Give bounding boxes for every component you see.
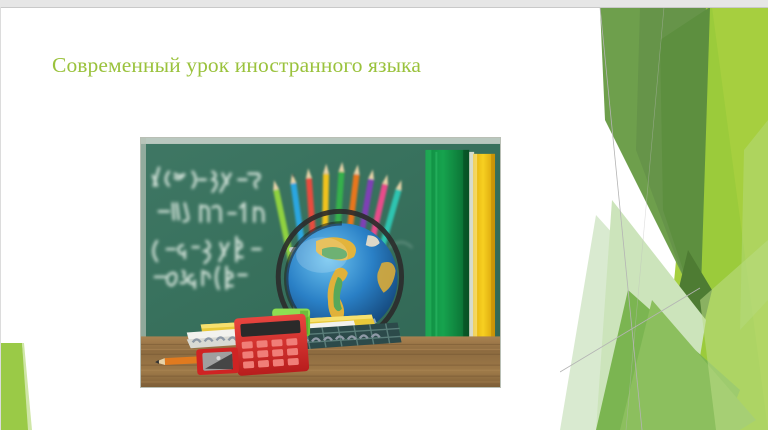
window-left-rule xyxy=(0,7,1,430)
window-top-rule xyxy=(0,0,768,8)
page-title: Современный урок иностранного языка xyxy=(52,52,522,79)
slide-canvas: Современный урок иностранного языка xyxy=(0,0,768,430)
title-placeholder[interactable]: Современный урок иностранного языка xyxy=(52,52,522,79)
classroom-photo[interactable] xyxy=(140,137,501,388)
